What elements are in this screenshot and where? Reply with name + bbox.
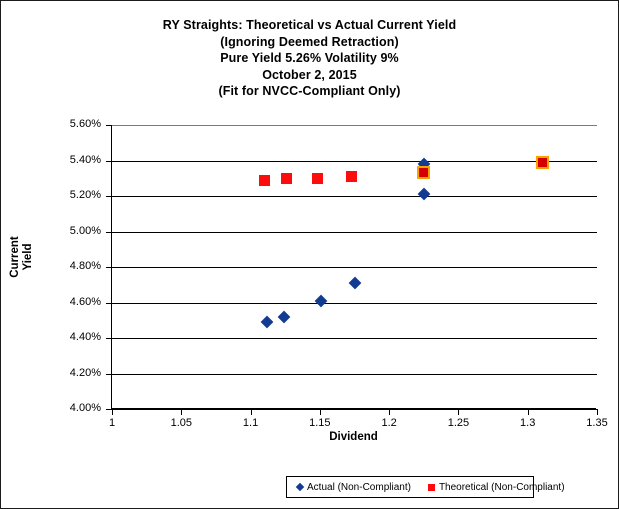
legend-label-actual: Actual (Non-Compliant) bbox=[307, 482, 411, 493]
x-axis-tick bbox=[181, 409, 182, 415]
chart-title-line-3: Pure Yield 5.26% Volatility 9% bbox=[1, 50, 618, 67]
y-axis-tick-label: 4.20% bbox=[46, 367, 101, 379]
chart-legend: Actual (Non-Compliant) Theoretical (Non-… bbox=[286, 476, 534, 498]
x-axis-tick bbox=[320, 409, 321, 415]
plot-area: 11.051.11.151.21.251.31.35 bbox=[111, 125, 596, 409]
y-axis-tick bbox=[106, 196, 112, 197]
y-axis-title-line-2: Yield bbox=[22, 197, 35, 317]
y-axis-tick bbox=[106, 125, 112, 126]
x-axis-tick-label: 1.3 bbox=[520, 417, 535, 429]
data-point-theoretical bbox=[259, 175, 270, 186]
y-axis-tick-label: 4.00% bbox=[46, 402, 101, 414]
y-axis-tick-label: 4.40% bbox=[46, 331, 101, 343]
gridline bbox=[112, 374, 597, 375]
y-axis-tick-label: 5.20% bbox=[46, 189, 101, 201]
data-point-theoretical bbox=[312, 173, 323, 184]
data-point-actual bbox=[261, 316, 274, 329]
legend-item-actual: Actual (Non-Compliant) bbox=[297, 482, 411, 493]
x-axis-tick bbox=[251, 409, 252, 415]
x-axis-title: Dividend bbox=[111, 431, 596, 443]
y-axis-tick-label: 4.80% bbox=[46, 260, 101, 272]
x-axis-tick bbox=[458, 409, 459, 415]
x-axis-tick-label: 1 bbox=[109, 417, 115, 429]
data-point-actual bbox=[315, 294, 328, 307]
x-axis-tick bbox=[597, 409, 598, 415]
x-axis-tick bbox=[112, 409, 113, 415]
x-axis-tick bbox=[389, 409, 390, 415]
gridline bbox=[112, 409, 597, 410]
chart-title-line-4: October 2, 2015 bbox=[1, 67, 618, 84]
chart-title-line-5: (Fit for NVCC-Compliant Only) bbox=[1, 83, 618, 100]
chart-frame: RY Straights: Theoretical vs Actual Curr… bbox=[0, 0, 619, 509]
data-point-theoretical bbox=[281, 173, 292, 184]
gridline bbox=[112, 125, 597, 126]
gridline bbox=[112, 267, 597, 268]
y-axis-tick-label: 5.60% bbox=[46, 118, 101, 130]
x-axis-tick bbox=[528, 409, 529, 415]
diamond-marker-icon bbox=[296, 483, 304, 491]
square-marker-icon bbox=[428, 484, 435, 491]
x-axis-tick-label: 1.25 bbox=[448, 417, 469, 429]
y-axis-tick-label: 5.00% bbox=[46, 225, 101, 237]
legend-item-theoretical: Theoretical (Non-Compliant) bbox=[428, 482, 565, 493]
data-point-actual bbox=[417, 188, 430, 201]
chart-title-line-1: RY Straights: Theoretical vs Actual Curr… bbox=[1, 17, 618, 34]
gridline bbox=[112, 338, 597, 339]
x-axis-tick-label: 1.15 bbox=[309, 417, 330, 429]
y-axis-tick bbox=[106, 303, 112, 304]
y-axis-tick bbox=[106, 267, 112, 268]
data-point-theoretical bbox=[536, 156, 549, 169]
x-axis-tick-label: 1.1 bbox=[243, 417, 258, 429]
legend-label-theoretical: Theoretical (Non-Compliant) bbox=[439, 482, 565, 493]
data-point-actual bbox=[348, 277, 361, 290]
x-axis-tick-label: 1.35 bbox=[586, 417, 607, 429]
data-point-actual bbox=[277, 310, 290, 323]
y-axis-tick bbox=[106, 374, 112, 375]
x-axis-tick-label: 1.2 bbox=[381, 417, 396, 429]
gridline bbox=[112, 232, 597, 233]
x-axis-tick-label: 1.05 bbox=[171, 417, 192, 429]
y-axis-tick bbox=[106, 161, 112, 162]
y-axis-tick bbox=[106, 338, 112, 339]
data-point-theoretical bbox=[417, 166, 430, 179]
y-axis-tick-label: 5.40% bbox=[46, 154, 101, 166]
chart-title: RY Straights: Theoretical vs Actual Curr… bbox=[1, 17, 618, 100]
gridline bbox=[112, 303, 597, 304]
data-point-theoretical bbox=[346, 171, 357, 182]
chart-title-line-2: (Ignoring Deemed Retraction) bbox=[1, 34, 618, 51]
y-axis-tick-label: 4.60% bbox=[46, 296, 101, 308]
gridline bbox=[112, 161, 597, 162]
gridline bbox=[112, 196, 597, 197]
y-axis-tick bbox=[106, 232, 112, 233]
y-axis-title-line-1: Current bbox=[9, 197, 22, 317]
